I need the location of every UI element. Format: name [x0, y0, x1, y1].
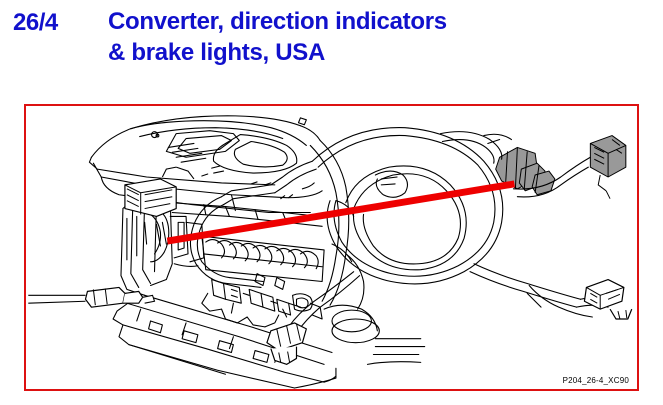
connector-lower-left [28, 287, 154, 307]
wiring-harness [28, 128, 631, 365]
page-title-line-2: & brake lights, USA [108, 37, 447, 68]
page-title-line-1: Converter, direction indicators [108, 6, 447, 37]
connector-lower-center [267, 323, 306, 364]
figure-frame: P204_26-4_XC90 [24, 104, 639, 391]
callout-pointer-line [167, 184, 514, 241]
connector-left [125, 167, 194, 216]
connector-lower-right [584, 280, 631, 319]
section-number: 26/4 [13, 9, 58, 37]
technical-illustration [26, 106, 637, 389]
figure-caption: P204_26-4_XC90 [563, 376, 629, 385]
figure-header: 26/4 Converter, direction indicators & b… [0, 0, 663, 92]
page-title: Converter, direction indicators & brake … [108, 6, 447, 68]
vehicle-front-end [89, 116, 424, 388]
